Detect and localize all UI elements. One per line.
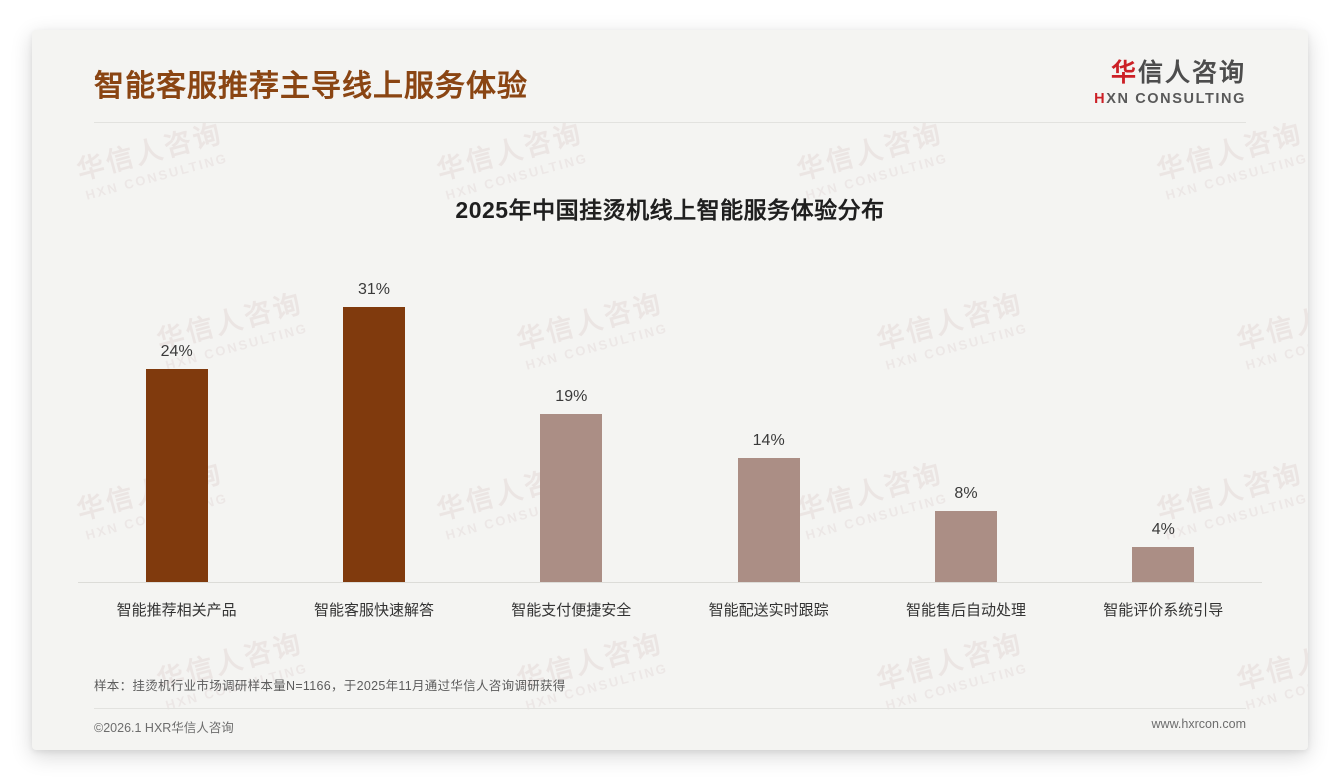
- watermark-en: HXN CONSULTING: [1242, 660, 1308, 713]
- watermark-text: 华信人咨询HXN CONSULTING: [152, 621, 311, 713]
- company-logo: 华信人咨询 HXN CONSULTING: [1094, 60, 1246, 107]
- bar-plot: 24%智能推荐相关产品31%智能客服快速解答19%智能支付便捷安全14%智能配送…: [78, 273, 1262, 583]
- bar-value-label: 8%: [954, 485, 977, 503]
- logo-en-red: H: [1094, 91, 1106, 107]
- bar-value-label: 14%: [753, 432, 785, 450]
- bar-category-label: 智能客服快速解答: [314, 599, 434, 620]
- logo-english-text: HXN CONSULTING: [1094, 92, 1246, 107]
- chart-title: 2025年中国挂烫机线上智能服务体验分布: [32, 191, 1308, 225]
- page-title: 智能客服推荐主导线上服务体验: [94, 72, 528, 102]
- website-text: www.hxrcon.com: [1152, 717, 1246, 731]
- header-divider: [94, 122, 1246, 123]
- bar-value-label: 24%: [161, 343, 193, 361]
- logo-cn-dark: 信人咨询: [1138, 59, 1246, 87]
- bar[interactable]: [935, 511, 997, 582]
- bar-value-label: 19%: [555, 388, 587, 406]
- slide-canvas: 华信人咨询HXN CONSULTING华信人咨询HXN CONSULTING华信…: [32, 30, 1308, 750]
- bar-group: 14%智能配送实时跟踪: [670, 273, 867, 583]
- bar-group: 19%智能支付便捷安全: [473, 273, 670, 583]
- logo-en-rest: XN CONSULTING: [1106, 91, 1246, 107]
- logo-cn-red: 华: [1111, 59, 1138, 87]
- watermark-cn: 华信人咨询: [1232, 621, 1308, 697]
- slide-header: 智能客服推荐主导线上服务体验 华信人咨询 HXN CONSULTING: [32, 30, 1308, 123]
- bar-group: 8%智能售后自动处理: [867, 273, 1064, 583]
- copyright-text: ©2026.1 HXR华信人咨询: [94, 717, 234, 736]
- logo-chinese-text: 华信人咨询: [1094, 60, 1246, 86]
- watermark-text: 华信人咨询HXN CONSULTING: [512, 621, 671, 713]
- chart-container: 2025年中国挂烫机线上智能服务体验分布 24%智能推荐相关产品31%智能客服快…: [32, 123, 1308, 630]
- watermark-text: 华信人咨询HXN CONSULTING: [1232, 621, 1308, 713]
- bar[interactable]: [146, 369, 208, 582]
- watermark-en: HXN CONSULTING: [882, 660, 1031, 713]
- footer-divider: [94, 708, 1246, 709]
- bar[interactable]: [1132, 547, 1194, 582]
- bar-group: 31%智能客服快速解答: [275, 273, 472, 583]
- bar-group: 4%智能评价系统引导: [1065, 273, 1262, 583]
- watermark-cn: 华信人咨询: [872, 621, 1027, 697]
- bar[interactable]: [343, 307, 405, 582]
- bar-category-label: 智能售后自动处理: [906, 599, 1026, 620]
- watermark-text: 华信人咨询HXN CONSULTING: [872, 621, 1031, 713]
- bar-category-label: 智能配送实时跟踪: [709, 599, 829, 620]
- slide-footer: ©2026.1 HXR华信人咨询 www.hxrcon.com: [94, 717, 1246, 737]
- bar-category-label: 智能支付便捷安全: [511, 599, 631, 620]
- bar-value-label: 31%: [358, 281, 390, 299]
- bar[interactable]: [540, 414, 602, 582]
- sample-footnote: 样本：挂烫机行业市场调研样本量N=1166，于2025年11月通过华信人咨询调研…: [94, 675, 566, 694]
- bar-group: 24%智能推荐相关产品: [78, 273, 275, 583]
- bar-category-label: 智能评价系统引导: [1103, 599, 1223, 620]
- bar[interactable]: [738, 458, 800, 582]
- bar-category-label: 智能推荐相关产品: [117, 599, 237, 620]
- bar-value-label: 4%: [1152, 521, 1175, 539]
